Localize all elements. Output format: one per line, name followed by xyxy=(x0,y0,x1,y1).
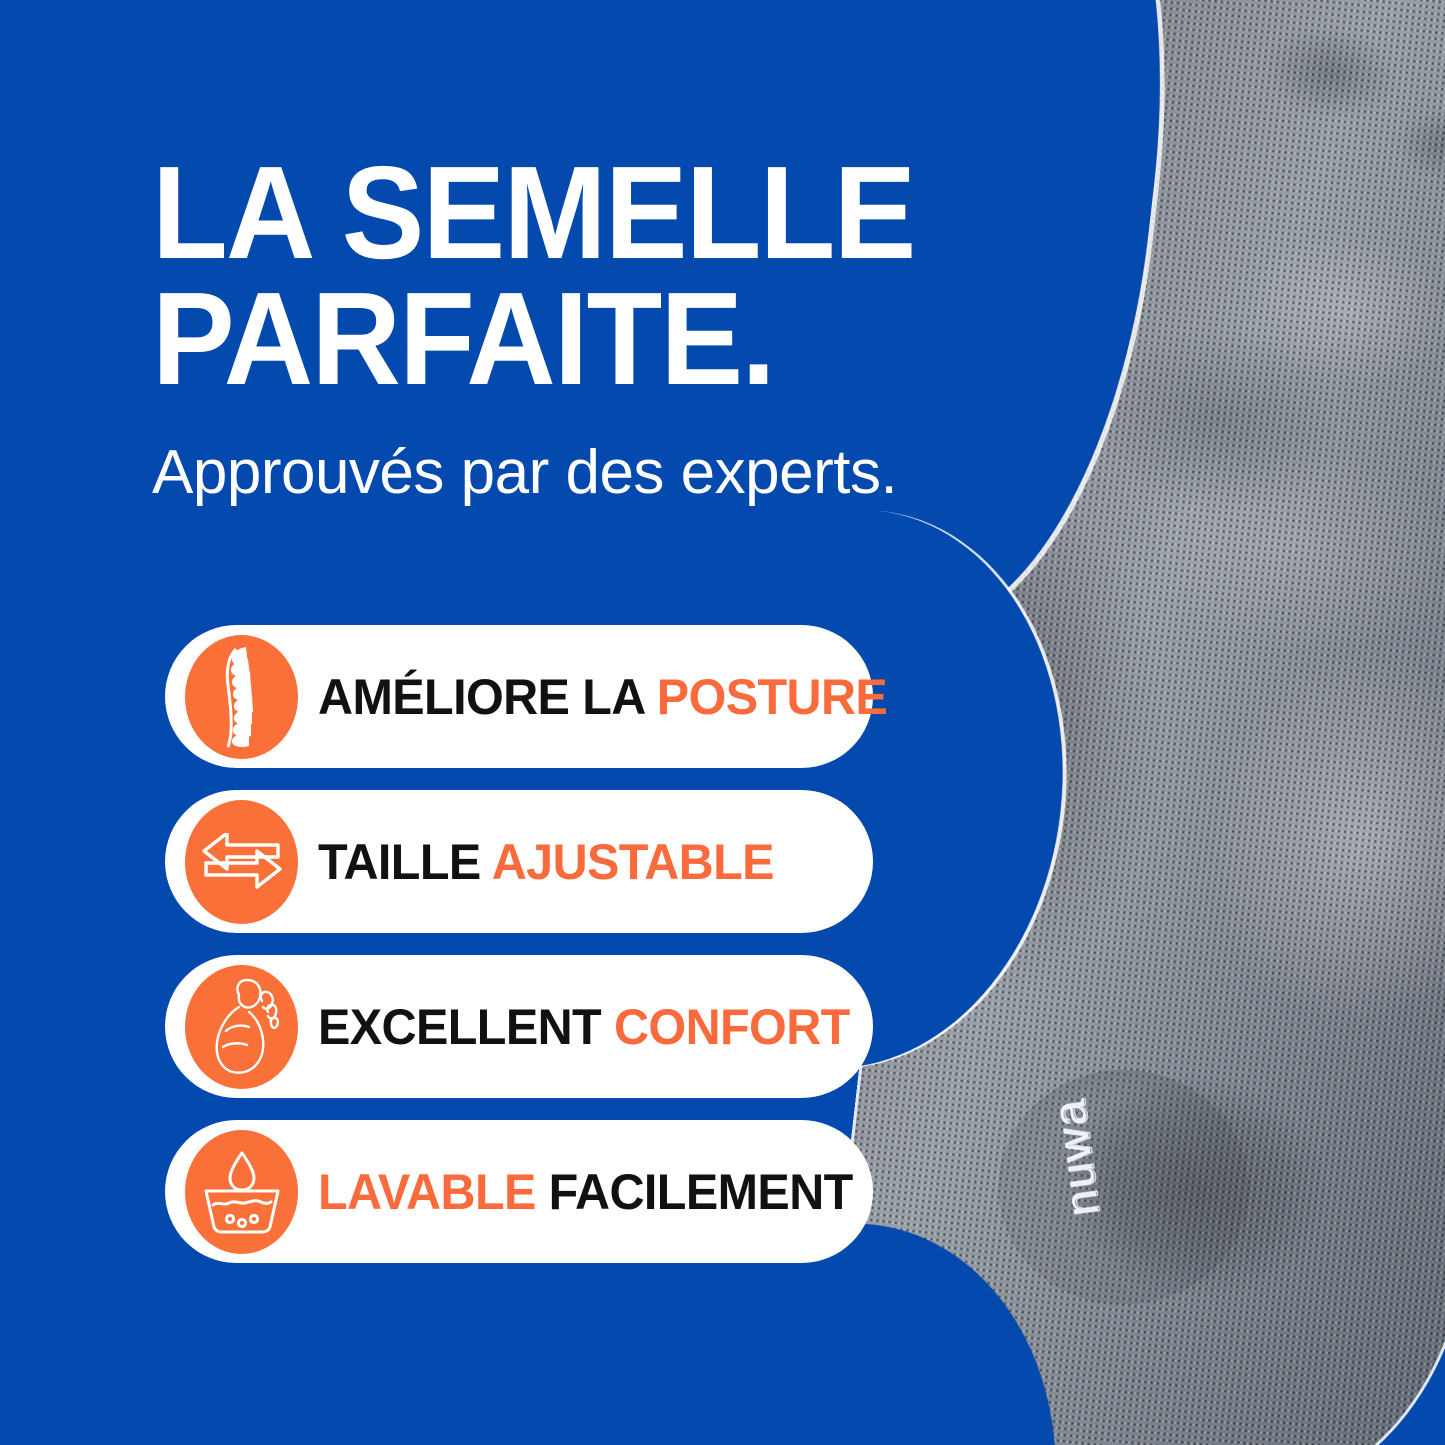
double-arrow-icon xyxy=(185,800,298,924)
feature-pill-adjustable[interactable]: TAILLE AJUSTABLE xyxy=(165,790,873,933)
feature-accent-text: POSTURE xyxy=(657,669,887,725)
feature-label: AMÉLIORE LA POSTURE xyxy=(318,672,887,722)
feature-lead-text: EXCELLENT xyxy=(318,999,614,1055)
feature-accent-text: CONFORT xyxy=(614,999,850,1055)
feature-pill-posture[interactable]: AMÉLIORE LA POSTURE xyxy=(165,625,873,768)
feature-label: TAILLE AJUSTABLE xyxy=(318,837,774,887)
subtitle: Approuvés par des experts. xyxy=(152,402,1072,505)
page-title: LA SEMELLE PARFAITE. xyxy=(152,0,1017,402)
feature-pill-washable[interactable]: LAVABLE FACILEMENT xyxy=(165,1120,873,1263)
promo-banner: nuwa LA SEMELLE PARFAITE. Approuvés par … xyxy=(0,0,1445,1445)
feature-lead-text: AMÉLIORE LA xyxy=(318,669,657,725)
copy-block: LA SEMELLE PARFAITE. Approuvés par des e… xyxy=(152,0,1072,505)
washable-icon xyxy=(185,1130,298,1254)
feature-pill-comfort[interactable]: EXCELLENT CONFORT xyxy=(165,955,873,1098)
brand-emboss: nuwa xyxy=(1042,1095,1111,1219)
insole-heel-pad xyxy=(995,1066,1251,1307)
feature-label: EXCELLENT CONFORT xyxy=(318,1002,850,1052)
feature-list: AMÉLIORE LA POSTURE TAILLE AJUSTABLE xyxy=(165,625,873,1263)
feature-accent-text: LAVABLE xyxy=(318,1164,536,1220)
footprint-icon xyxy=(185,965,298,1089)
feature-accent-text: AJUSTABLE xyxy=(492,834,774,890)
spine-icon xyxy=(185,635,298,759)
feature-label: LAVABLE FACILEMENT xyxy=(318,1167,853,1217)
feature-lead-text: TAILLE xyxy=(318,834,492,890)
feature-lead-text: FACILEMENT xyxy=(536,1164,853,1220)
